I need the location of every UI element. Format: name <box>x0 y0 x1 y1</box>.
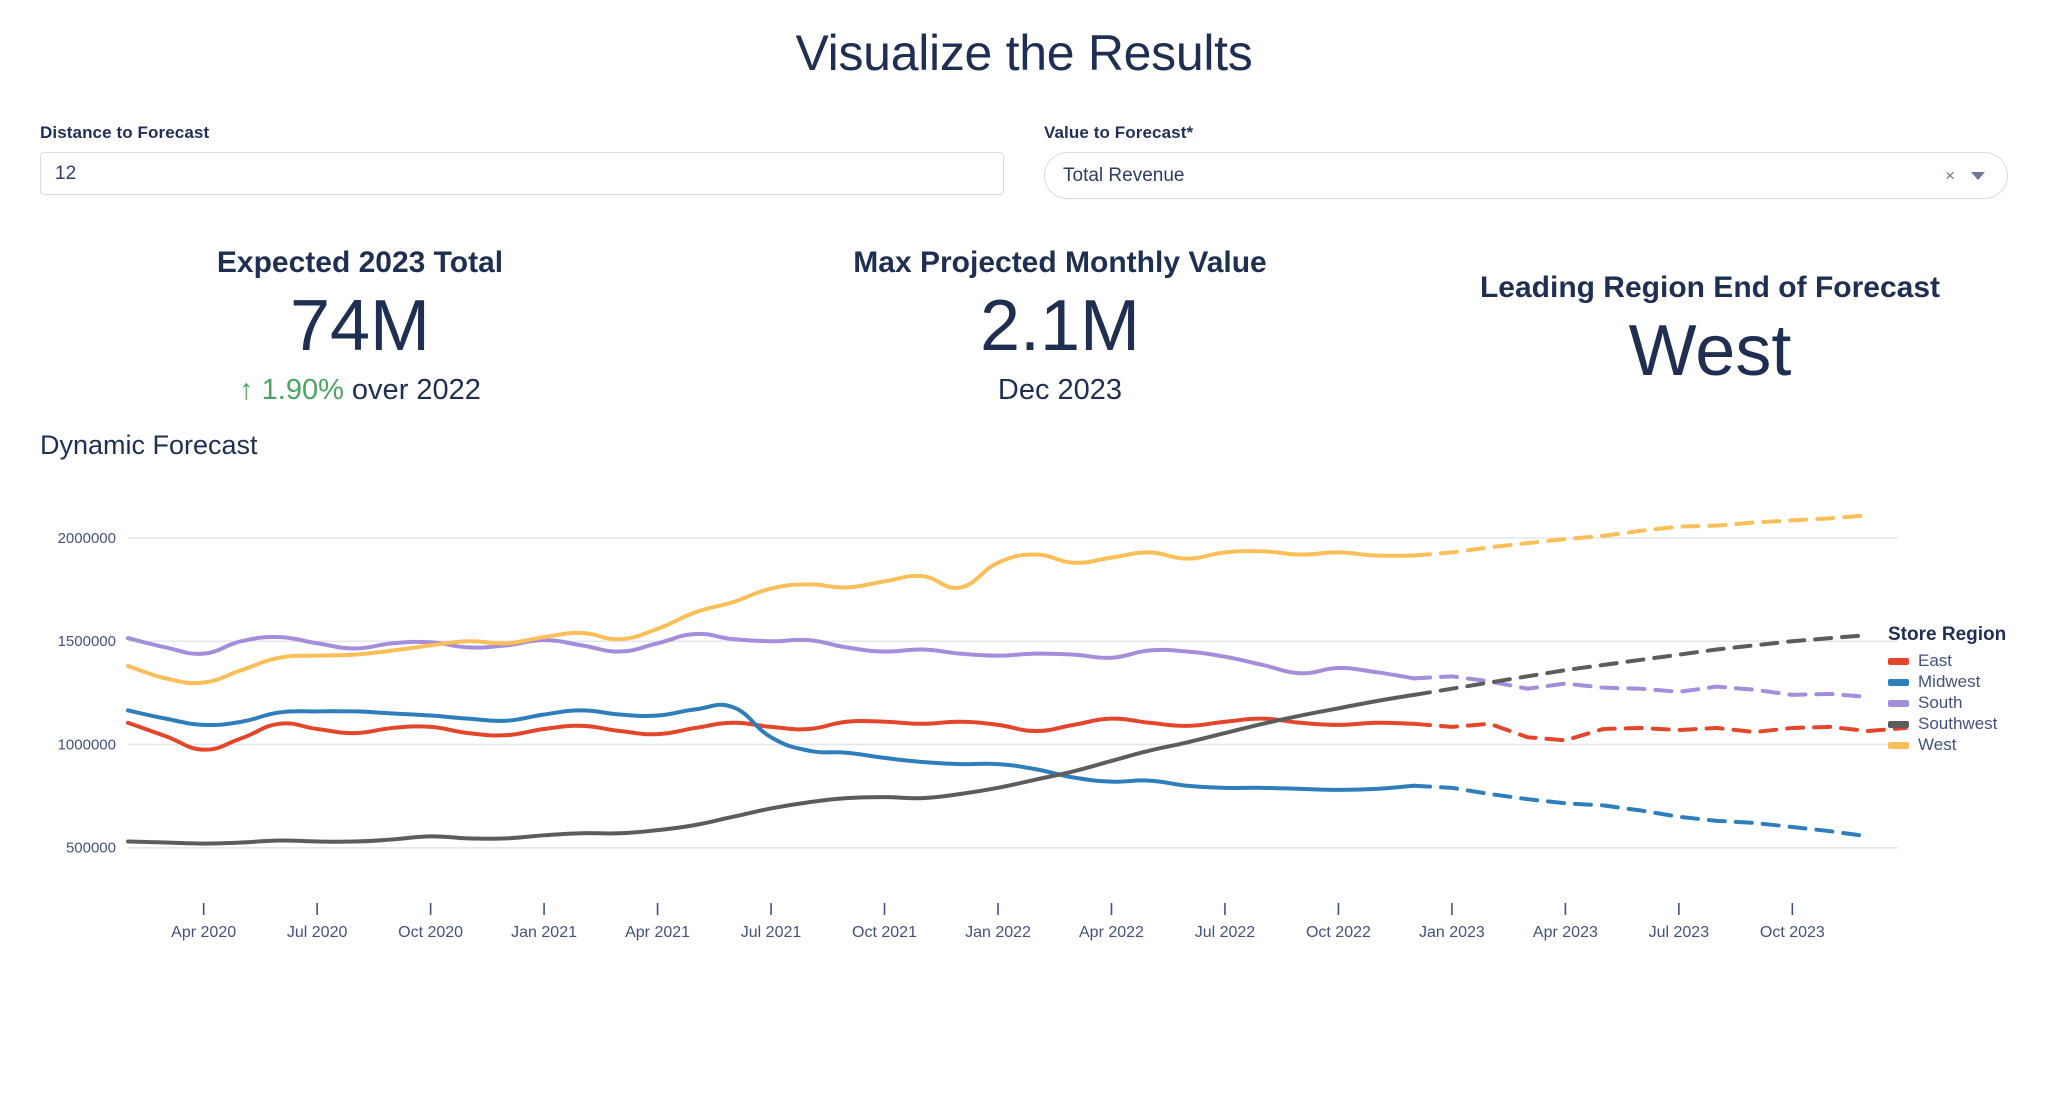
kpi-expected-total: Expected 2023 Total 74M ↑ 1.90% over 202… <box>10 245 710 408</box>
x-axis-tick-label: Oct 2022 <box>1306 924 1371 941</box>
kpi-title: Max Projected Monthly Value <box>710 245 1410 281</box>
x-axis-tick-label: Apr 2023 <box>1533 924 1598 941</box>
kpi-row: Expected 2023 Total 74M ↑ 1.90% over 202… <box>0 199 2048 408</box>
series-line-midwest-forecast <box>1414 785 1868 836</box>
y-axis-tick-label: 1000000 <box>58 736 116 753</box>
kpi-title: Expected 2023 Total <box>10 245 710 281</box>
series-line-west-actual <box>128 551 1414 683</box>
distance-to-forecast-input[interactable]: 12 <box>40 152 1004 195</box>
legend-item-west[interactable]: West <box>1888 735 2006 755</box>
value-to-forecast-value: Total Revenue <box>1063 165 1939 187</box>
legend-swatch-icon <box>1888 742 1909 749</box>
legend-item-southwest[interactable]: Southwest <box>1888 714 2006 734</box>
legend-swatch-icon <box>1888 658 1909 665</box>
x-axis-tick-label: Apr 2020 <box>171 924 236 941</box>
x-axis-tick-label: Oct 2020 <box>398 924 463 941</box>
x-axis-tick-label: Apr 2021 <box>625 924 690 941</box>
series-line-southwest-forecast <box>1414 635 1868 695</box>
dynamic-forecast-chart-block: Dynamic Forecast 50000010000001500000200… <box>0 430 2048 969</box>
series-line-east-forecast <box>1414 723 1906 740</box>
value-to-forecast-select[interactable]: Total Revenue × <box>1044 152 2008 199</box>
distance-to-forecast-label: Distance to Forecast <box>40 123 1004 143</box>
x-axis-tick-label: Jul 2023 <box>1649 924 1710 941</box>
value-to-forecast-control: Value to Forecast* Total Revenue × <box>1044 123 2008 199</box>
kpi-title: Leading Region End of Forecast <box>1410 270 2010 306</box>
legend-item-label: West <box>1918 735 1956 755</box>
kpi-max-projected-monthly: Max Projected Monthly Value 2.1M Dec 202… <box>710 245 1410 408</box>
clear-icon[interactable]: × <box>1939 167 1971 184</box>
distance-to-forecast-value: 12 <box>55 163 76 185</box>
legend-item-label: Southwest <box>1918 714 1997 734</box>
kpi-leading-region: Leading Region End of Forecast West <box>1410 245 2010 396</box>
x-axis-tick-label: Oct 2021 <box>852 924 917 941</box>
kpi-delta: ↑ 1.90% <box>239 374 344 406</box>
legend-item-label: Midwest <box>1918 672 1980 692</box>
legend-swatch-icon <box>1888 700 1909 707</box>
x-axis-tick-label: Jan 2021 <box>511 924 577 941</box>
y-axis-tick-label: 2000000 <box>58 530 116 547</box>
chevron-down-icon[interactable] <box>1971 172 1985 180</box>
kpi-subtext: Dec 2023 <box>710 373 1410 408</box>
value-to-forecast-label: Value to Forecast* <box>1044 123 2008 143</box>
legend-swatch-icon <box>1888 721 1909 728</box>
legend-title: Store Region <box>1888 624 2006 646</box>
controls-row: Distance to Forecast 12 Value to Forecas… <box>0 81 2048 199</box>
kpi-value: 2.1M <box>710 283 1410 371</box>
distance-to-forecast-control: Distance to Forecast 12 <box>40 123 1004 199</box>
page-title: Visualize the Results <box>0 26 2048 81</box>
chart-legend: Store Region EastMidwestSouthSouthwestWe… <box>1888 624 2006 756</box>
dynamic-forecast-chart[interactable]: 500000100000015000002000000Apr 2020Jul 2… <box>40 469 2048 969</box>
x-axis-tick-label: Jan 2022 <box>965 924 1031 941</box>
kpi-value: West <box>1410 308 2010 396</box>
kpi-delta-suffix: over 2022 <box>344 374 481 406</box>
y-axis-tick-label: 1500000 <box>58 633 116 650</box>
legend-item-label: South <box>1918 693 1962 713</box>
legend-item-midwest[interactable]: Midwest <box>1888 672 2006 692</box>
kpi-subtext: ↑ 1.90% over 2022 <box>10 373 710 408</box>
chart-title: Dynamic Forecast <box>40 430 2048 461</box>
x-axis-tick-label: Jul 2022 <box>1195 924 1256 941</box>
series-line-midwest-actual <box>128 704 1414 789</box>
legend-items: EastMidwestSouthSouthwestWest <box>1888 651 2006 755</box>
x-axis-tick-label: Oct 2023 <box>1760 924 1825 941</box>
legend-item-label: East <box>1918 651 1952 671</box>
legend-item-east[interactable]: East <box>1888 651 2006 671</box>
y-axis-tick-label: 500000 <box>66 839 116 856</box>
x-axis-tick-label: Apr 2022 <box>1079 924 1144 941</box>
x-axis-tick-label: Jul 2020 <box>287 924 348 941</box>
kpi-value: 74M <box>10 283 710 371</box>
legend-swatch-icon <box>1888 679 1909 686</box>
x-axis-tick-label: Jul 2021 <box>741 924 802 941</box>
legend-item-south[interactable]: South <box>1888 693 2006 713</box>
series-line-south-forecast <box>1414 676 1868 697</box>
chart-area: 500000100000015000002000000Apr 2020Jul 2… <box>40 469 2048 969</box>
series-line-southwest-actual <box>128 695 1414 844</box>
x-axis-tick-label: Jan 2023 <box>1419 924 1485 941</box>
series-line-west-forecast <box>1414 515 1868 555</box>
